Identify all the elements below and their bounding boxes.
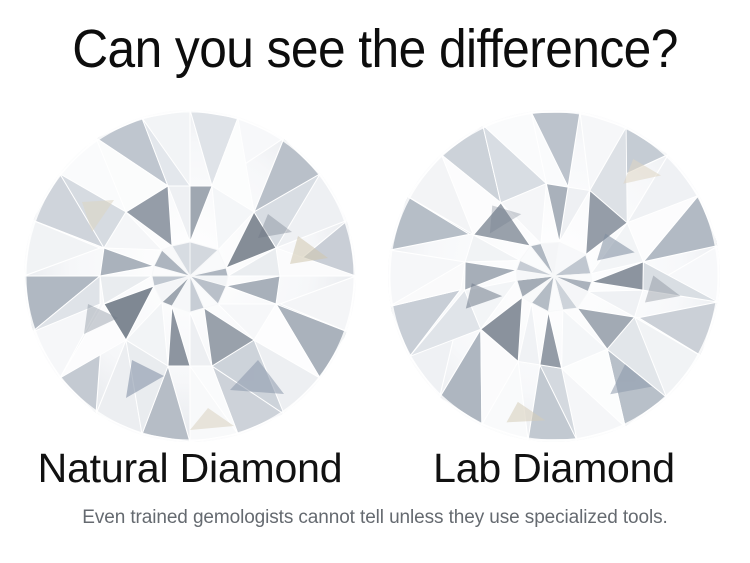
caption-text: Even trained gemologists cannot tell unl… (0, 505, 750, 531)
diamond-labels-row: Natural Diamond Lab Diamond (0, 444, 750, 494)
image-canvas: Can you see the difference? (0, 0, 750, 563)
lab-diamond-image (386, 108, 722, 444)
natural-diamond-label: Natural Diamond (22, 444, 358, 492)
lab-diamond-label: Lab Diamond (386, 444, 722, 492)
page-title: Can you see the difference? (30, 18, 720, 80)
diamond-comparison-row (0, 108, 750, 444)
natural-diamond-image (22, 108, 358, 444)
